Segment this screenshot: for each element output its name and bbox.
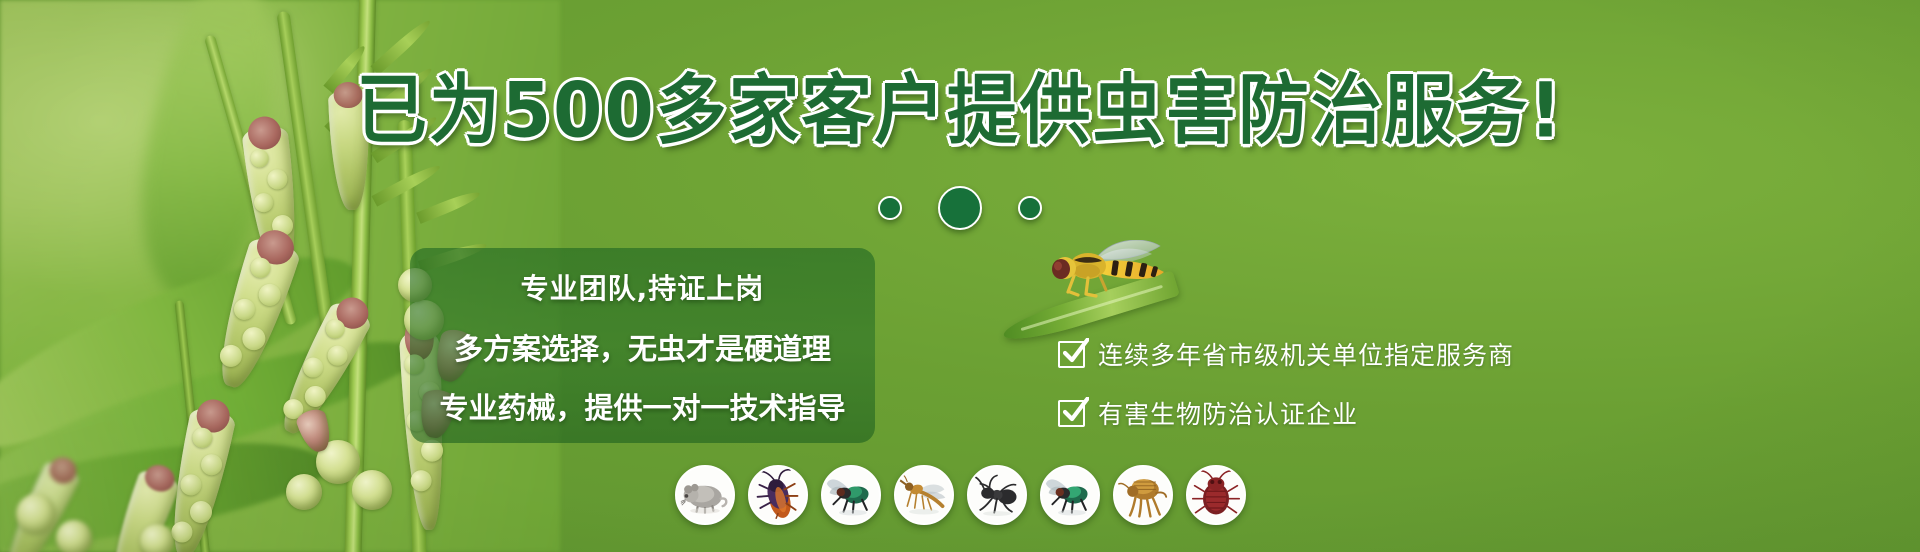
- decor-dot-small-left: [878, 196, 902, 220]
- hoverfly-photo: [1040, 240, 1180, 302]
- mosquito-icon[interactable]: [894, 465, 954, 525]
- checkbox-checked-icon: [1058, 341, 1085, 368]
- cockroach-icon[interactable]: [748, 465, 808, 525]
- fly-icon[interactable]: [821, 465, 881, 525]
- ant-icon[interactable]: [967, 465, 1027, 525]
- flea-icon[interactable]: [1113, 465, 1173, 525]
- pest-type-icon-row: [0, 465, 1920, 525]
- page-title: 已为500多家客户提供虫害防治服务!: [0, 74, 1920, 150]
- credential-label: 有害生物防治认证企业: [1098, 395, 1358, 431]
- decor-dot-small-right: [1018, 196, 1042, 220]
- fly-icon-2[interactable]: [1040, 465, 1100, 525]
- selling-point-line-1: 专业团队,持证上岗: [410, 267, 875, 307]
- selling-points-panel: 专业团队,持证上岗 多方案选择，无虫才是硬道理 专业药械，提供一对一技术指导: [410, 248, 875, 443]
- rat-icon[interactable]: [675, 465, 735, 525]
- selling-point-line-2: 多方案选择，无虫才是硬道理: [410, 326, 875, 368]
- checkbox-checked-icon: [1058, 400, 1085, 427]
- credential-label: 连续多年省市级机关单位指定服务商: [1098, 336, 1514, 372]
- pest-control-hero-banner: 已为500多家客户提供虫害防治服务!: [0, 0, 1920, 552]
- bedbug-icon[interactable]: [1186, 465, 1246, 525]
- decor-dot-large-center: [938, 186, 982, 230]
- list-item: 有害生物防治认证企业: [1058, 395, 1514, 431]
- decor-dot-group: [0, 186, 1920, 230]
- selling-point-line-3: 专业药械，提供一对一技术指导: [410, 385, 875, 427]
- list-item: 连续多年省市级机关单位指定服务商: [1058, 336, 1514, 372]
- credentials-list: 连续多年省市级机关单位指定服务商 有害生物防治认证企业: [1058, 336, 1514, 431]
